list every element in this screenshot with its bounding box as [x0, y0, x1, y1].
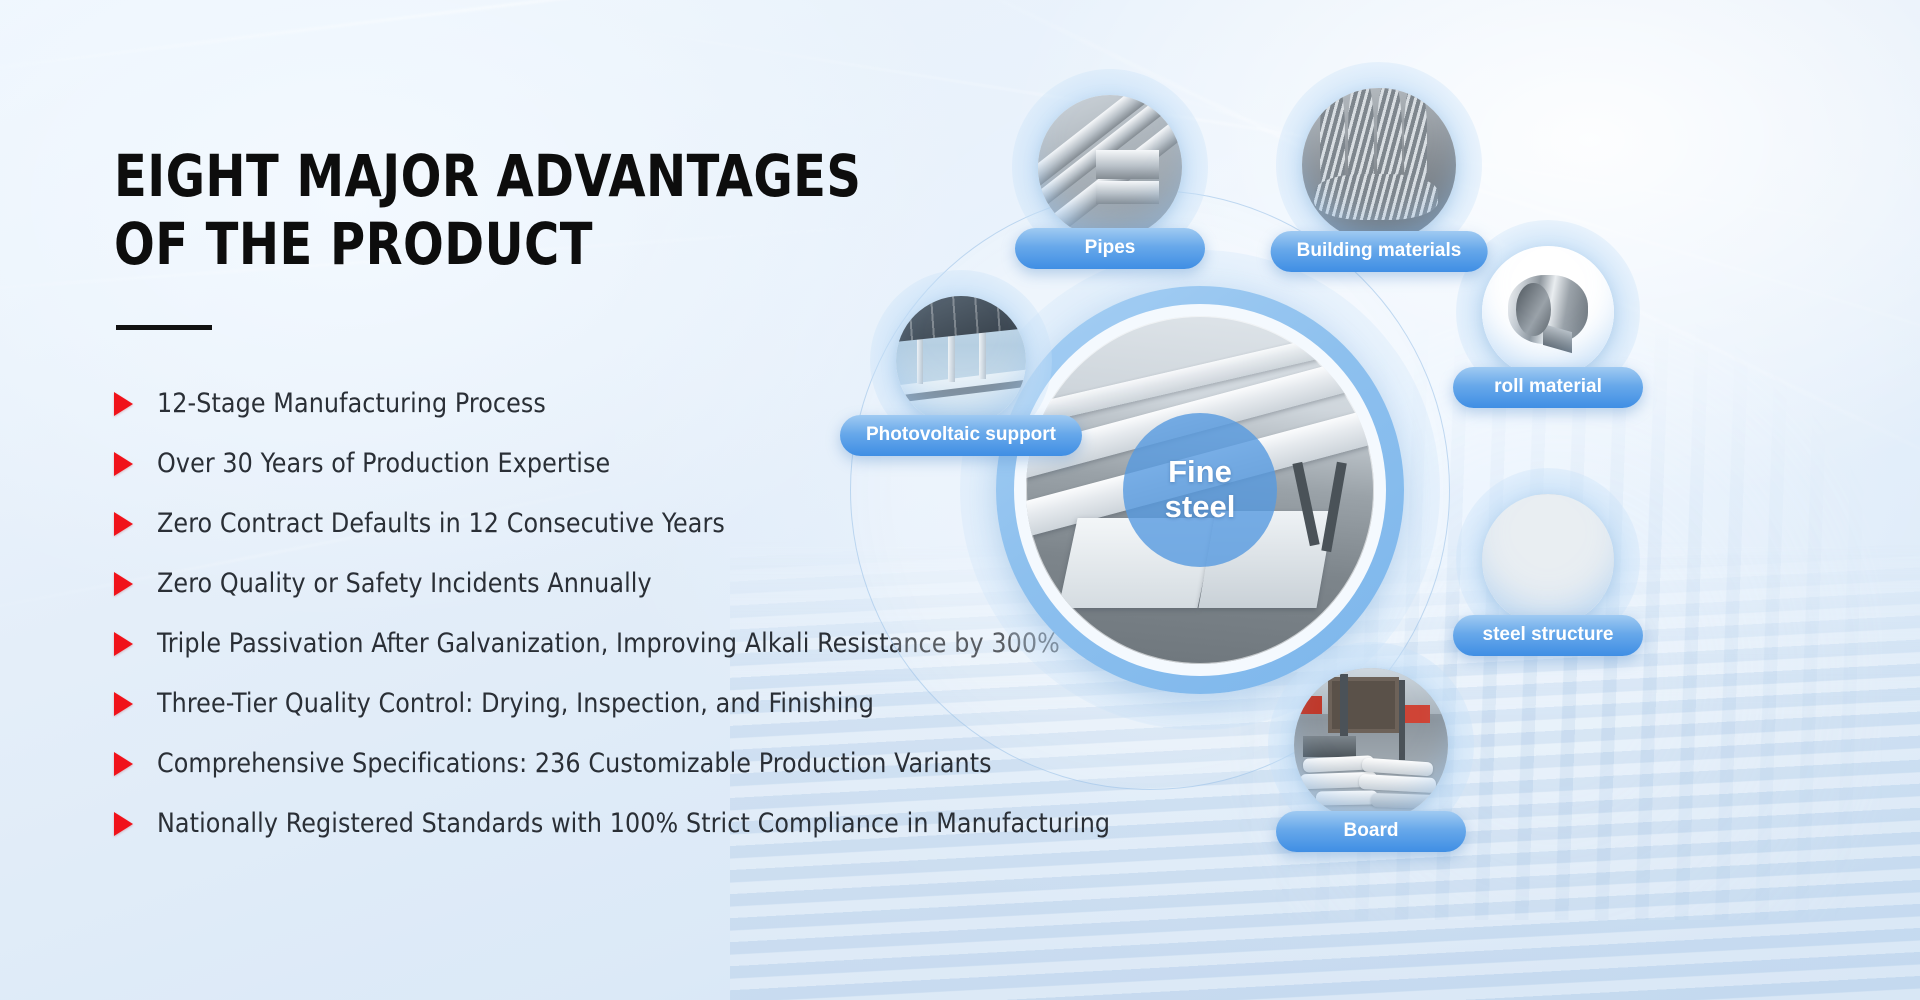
- title-divider: [116, 325, 212, 330]
- category-badge-board[interactable]: Board: [1294, 668, 1448, 822]
- badge-photo-pipes: [1038, 95, 1182, 239]
- advantage-text: 12-Stage Manufacturing Process: [157, 388, 546, 419]
- badge-photo-photovoltaic-support: [896, 296, 1026, 426]
- badge-photo-board: [1294, 668, 1448, 822]
- badge-label: Pipes: [1015, 228, 1205, 269]
- hub-label-line-2: steel: [1165, 489, 1236, 524]
- triangle-bullet-icon: [114, 692, 133, 716]
- category-badge-steel-structure[interactable]: steel structure: [1482, 494, 1614, 626]
- category-badge-photovoltaic-support[interactable]: Photovoltaic support: [896, 296, 1026, 426]
- triangle-bullet-icon: [114, 812, 133, 836]
- badge-label: steel structure: [1453, 615, 1643, 656]
- badge-photo-roll-material: [1482, 246, 1614, 378]
- triangle-bullet-icon: [114, 632, 133, 656]
- badge-label: Board: [1276, 811, 1466, 852]
- hub-label: Fine steel: [1123, 413, 1277, 567]
- advantage-text: Zero Contract Defaults in 12 Consecutive…: [157, 508, 725, 539]
- badge-photo-steel-structure: [1482, 494, 1614, 626]
- category-badge-pipes[interactable]: Pipes: [1038, 95, 1182, 239]
- advantage-text: Three-Tier Quality Control: Drying, Insp…: [157, 688, 874, 719]
- triangle-bullet-icon: [114, 392, 133, 416]
- badge-label: roll material: [1453, 367, 1643, 408]
- badge-photo-building-materials: [1302, 88, 1456, 242]
- triangle-bullet-icon: [114, 512, 133, 536]
- category-badge-roll-material[interactable]: roll material: [1482, 246, 1614, 378]
- triangle-bullet-icon: [114, 752, 133, 776]
- advantage-text: Zero Quality or Safety Incidents Annuall…: [157, 568, 652, 599]
- product-category-diagram: Fine steel Pipes Building materials: [860, 0, 1920, 1000]
- badge-label: Photovoltaic support: [840, 415, 1082, 456]
- triangle-bullet-icon: [114, 572, 133, 596]
- page-title-line-1: EIGHT MAJOR ADVANTAGES: [114, 142, 861, 210]
- triangle-bullet-icon: [114, 452, 133, 476]
- advantage-text: Over 30 Years of Production Expertise: [157, 448, 610, 479]
- category-badge-building-materials[interactable]: Building materials: [1302, 88, 1456, 242]
- hub-label-line-1: Fine: [1168, 454, 1232, 489]
- badge-label: Building materials: [1271, 231, 1488, 272]
